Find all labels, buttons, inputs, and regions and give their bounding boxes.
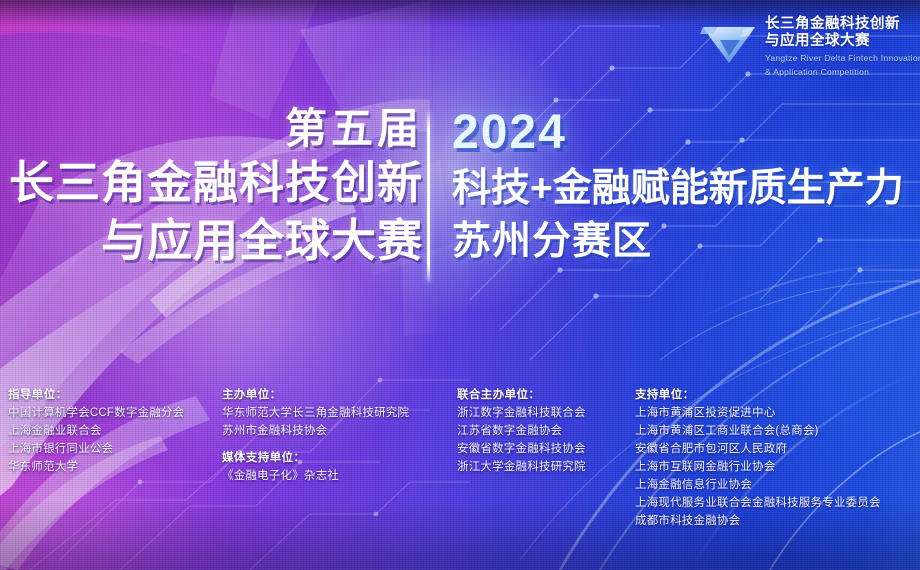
sponsor-column-organizer: 主办单位： 华东师范大学长三角金融科技研究院 苏州市金融科技协会 媒体支持单位：… [222,386,409,485]
sponsor-item: 苏州市金融科技协会 [222,422,409,440]
sponsor-column-support: 支持单位： 上海市黄浦区投资促进中心 上海市黄浦区工商业联合会(总商会) 安徽省… [635,386,881,530]
event-region: 苏州分赛区 [452,216,904,268]
event-name-line1: 长三角金融科技创新 [9,154,423,212]
headline-divider [427,112,430,282]
sponsor-item: 安徽省数字金融科技协会 [457,440,586,458]
sponsor-heading: 指导单位： [8,386,184,404]
edition-label: 第五届 [9,104,423,154]
sponsor-item: 浙江数字金融科技联合会 [457,404,586,422]
sponsor-item: 浙江大学金融科技研究院 [457,458,586,476]
sponsor-item: 上海市银行同业公会 [8,440,184,458]
headline-right: 2024 科技+金融赋能新质生产力 苏州分赛区 [452,106,904,268]
sponsor-heading: 联合主办单位： [457,386,586,404]
sponsor-item: 华东师范大学长三角金融科技研究院 [222,404,409,422]
event-backdrop-screen: 长三角金融科技创新 与应用全球大赛 Yangtze River Delta Fi… [0,0,920,570]
sponsor-item: 安徽省合肥市包河区人民政府 [635,440,881,458]
event-name-line2: 与应用全球大赛 [9,212,423,270]
sponsor-column-guidance: 指导单位： 中国计算机学会CCF数字金融分会 上海金融业联合会 上海市银行同业公… [8,386,184,476]
sponsor-item: 上海金融业联合会 [8,422,184,440]
sponsor-item: 上海市黄浦区工商业联合会(总商会) [635,422,881,440]
sponsor-credits: 指导单位： 中国计算机学会CCF数字金融分会 上海金融业联合会 上海市银行同业公… [0,386,920,570]
event-year: 2024 [452,106,904,160]
sponsor-item: 江苏省数字金融协会 [457,422,586,440]
sponsor-column-coorganizer: 联合主办单位： 浙江数字金融科技联合会 江苏省数字金融协会 安徽省数字金融科技协… [457,386,586,476]
sponsor-item: 上海市黄浦区投资促进中心 [635,404,881,422]
headline-left: 第五届 长三角金融科技创新 与应用全球大赛 [9,104,423,270]
headline-block: 第五届 长三角金融科技创新 与应用全球大赛 2024 科技+金融赋能新质生产力 … [0,0,920,300]
sponsor-item: 华东师范大学 [8,458,184,476]
sponsor-item: 中国计算机学会CCF数字金融分会 [8,404,184,422]
sponsor-heading: 主办单位： [222,386,409,404]
sponsor-spacer [222,440,409,449]
event-slogan: 科技+金融赋能新质生产力 [452,162,904,216]
sponsor-item: 上海市互联网金融行业协会 [635,458,881,476]
sponsor-heading: 支持单位： [635,386,881,404]
sponsor-item: 《金融电子化》杂志社 [222,467,409,485]
sponsor-heading-media: 媒体支持单位： [222,449,409,467]
sponsor-item: 上海金融信息行业协会 [635,476,881,494]
sponsor-item: 成都市科技金融协会 [635,512,881,530]
sponsor-item: 上海现代服务业联合会金融科技服务专业委员会 [635,494,881,512]
